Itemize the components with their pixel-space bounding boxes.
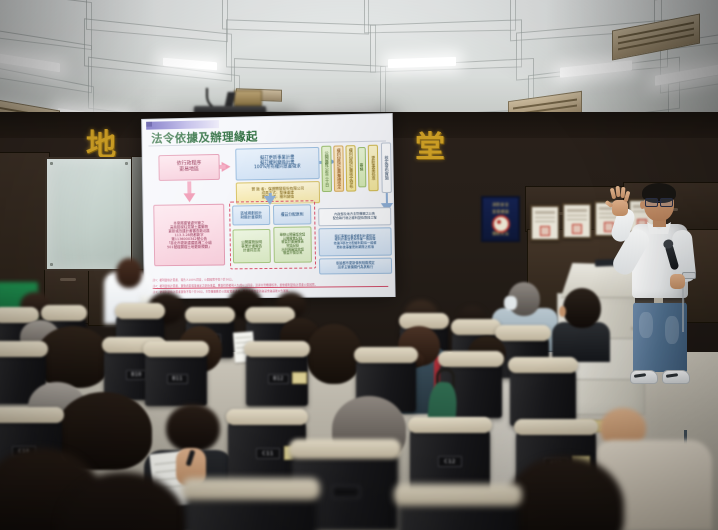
seat-number-plate: B11 bbox=[167, 374, 188, 384]
presenter-speaker bbox=[608, 186, 716, 386]
presenter-jeans bbox=[633, 302, 687, 372]
audience-head-young bbox=[563, 288, 601, 328]
seat-number-plate: C11 bbox=[256, 448, 280, 459]
auditorium-seat-foreground[interactable] bbox=[186, 492, 316, 530]
slide-vbox-public-display: 公開展覽公告三十日 bbox=[321, 146, 332, 192]
cabinet-pull[interactable] bbox=[60, 278, 76, 281]
fire-safety-sign-text: 預防火災 bbox=[483, 231, 518, 236]
framed-certificate bbox=[530, 205, 560, 241]
ceiling bbox=[0, 0, 718, 128]
slide-box-allocation-rule: 權益分配原則 bbox=[273, 204, 311, 225]
slide-box-authority-request: 依據都市更新條例相關規定 請求主管機關代為其執行 bbox=[319, 258, 392, 275]
slide-box-deliberation-meeting: 舉辦公開審議會議 公開展覽記錄 權益計畫審核表 會議紀錄 出列席審議會議 權益平… bbox=[273, 226, 312, 263]
fire-safety-sign-text: 宣導標語 bbox=[483, 209, 518, 214]
slide-box-high-risk-building: 本案屬建管處列管之 高風險樑柱混凝土建築物 更新或改建計畫審查新北區 113.3… bbox=[153, 204, 225, 267]
projector-mount bbox=[234, 90, 262, 106]
slide-footnote: 註1：權利變換計畫書、報告人100%同意，公開展覽不得少於30日。 bbox=[152, 276, 388, 282]
slide-decor-bar bbox=[146, 120, 219, 130]
slide-box-public-hearing: 公開展覽說明 事業計畫報告 計畫同意書 bbox=[233, 229, 271, 263]
seat-number-plate: C12 bbox=[438, 456, 462, 467]
slide-box-plan-approval-detail: 擬訂事業計畫或權利計畫核定 權利計畫並更換作業一致辦理 依第3項次分配權利取得一… bbox=[318, 227, 391, 256]
slide-box-current-rule: 依行政程序 更易地區 bbox=[158, 154, 219, 181]
arrow-down-icon bbox=[264, 196, 276, 205]
eyeglasses bbox=[645, 198, 673, 205]
slide-box-design-finance: 區域規劃設計 財務計畫原則 bbox=[232, 205, 270, 226]
fire-safety-sign-text: 消防安全 bbox=[483, 202, 518, 207]
auditorium-seat-foreground[interactable] bbox=[398, 498, 518, 530]
seat-number-plate: B12 bbox=[268, 374, 289, 384]
audience-ear bbox=[559, 306, 566, 317]
slide-decor-square bbox=[146, 122, 152, 127]
seat-number-plate: B10 bbox=[126, 370, 147, 380]
slide-footnote: 註3：依權利變換計畫書實施不得少於30日，主管機關應於公開展覽期滿後，應提報都市… bbox=[153, 288, 389, 294]
framed-certificate bbox=[562, 203, 592, 239]
presenter-hand-left-raised bbox=[610, 194, 630, 216]
lecture-hall-photo: 地 堂 消防安全 宣導標語 預防火災 bbox=[0, 0, 718, 530]
slide-vbox-approval: 權利變換計畫核定發布 bbox=[345, 145, 356, 192]
auditorium-seat[interactable]: B12 bbox=[246, 352, 308, 406]
audience-head bbox=[36, 326, 110, 388]
slide-vbox-review: 權利變換計畫審議核定 bbox=[333, 145, 344, 191]
fire-safety-sign: 消防安全 宣導標語 預防火災 bbox=[481, 196, 520, 242]
audience-head bbox=[116, 258, 142, 288]
slide-vbox-deliberation: 審議 bbox=[358, 147, 367, 187]
wall-whiteboard bbox=[45, 157, 133, 271]
gold-character-tang: 堂 bbox=[415, 122, 445, 166]
slide-vbox-publish: 核定發布實施 bbox=[381, 142, 392, 193]
auditorium-seat[interactable]: B11 bbox=[145, 352, 207, 406]
presenter-hand-right bbox=[670, 274, 685, 289]
projection-screen: 法令依據及辦理緣起 依行政程序 更易地區 擬訂更新事業計畫 擬訂權利變換計畫 1… bbox=[141, 113, 395, 299]
presenter-shoe-left bbox=[630, 370, 658, 384]
arrow-down-icon bbox=[184, 193, 196, 202]
seat-number-plate bbox=[332, 486, 360, 498]
presenter-shoe-right bbox=[662, 370, 690, 384]
slide-surface: 法令依據及辦理緣起 依行政程序 更易地區 擬訂更新事業計畫 擬訂權利變換計畫 1… bbox=[141, 113, 395, 299]
slide-vbox-project-approval: 更新事業核准 bbox=[368, 145, 379, 192]
audience-head bbox=[166, 404, 220, 452]
seat-tag bbox=[292, 372, 307, 384]
auditorium-seat[interactable] bbox=[510, 368, 576, 426]
audience-dark-top bbox=[552, 322, 610, 362]
face-mask bbox=[504, 296, 517, 310]
slide-box-plan-drafting: 擬訂更新事業計畫 擬訂權利變換計畫 100%所有權同意書徵求 bbox=[235, 147, 319, 181]
slide-box-announcement: 內政部及地方主管機關之公告 配合執行後之權利變換階段工程 bbox=[318, 207, 391, 226]
